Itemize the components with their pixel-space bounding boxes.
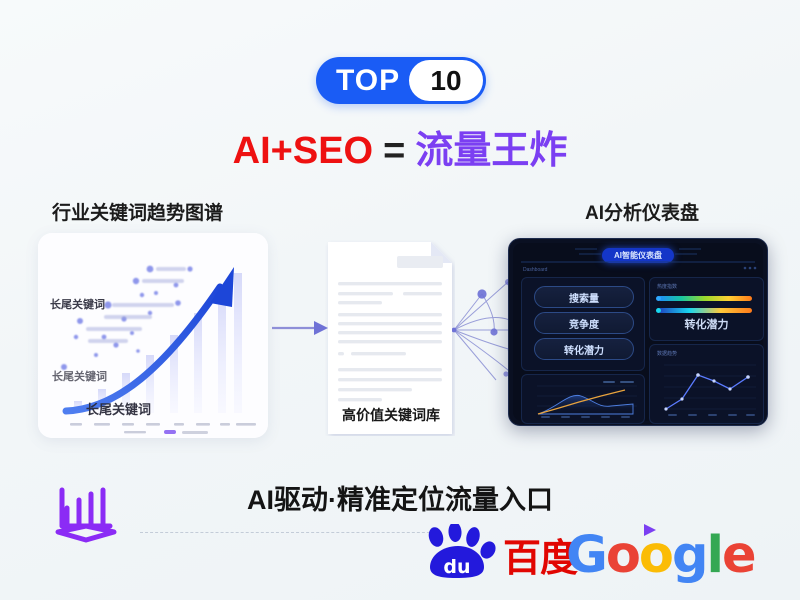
ai-dashboard-card: AI智能仪表盘 Dashboard 搜索量 竞争度 转化潜力 (508, 238, 768, 426)
heat-gauge-marker-1 (656, 296, 661, 301)
dashboard-title: AI智能仪表盘 (602, 248, 674, 263)
longtail-keyword-label-2: 长尾关键词 (52, 368, 107, 384)
metric-pill-conversion[interactable]: 转化潜力 (534, 338, 634, 360)
metric-pill-competition[interactable]: 竞争度 (534, 312, 634, 334)
heat-gauge-marker-2 (656, 308, 661, 313)
google-wordmark: Google (566, 530, 755, 581)
svg-text:du: du (443, 556, 470, 578)
page-title: AI+SEO=流量王炸 (0, 128, 800, 174)
top-badge-number: 10 (409, 60, 483, 101)
headline-left: AI+SEO (233, 130, 373, 172)
dashboard-subtitle: Dashboard (523, 267, 547, 273)
longtail-keyword-label-1: 长尾关键词 (50, 296, 105, 312)
heat-index-caption: 热度指数 (657, 283, 677, 290)
top-badge-word: TOP (336, 66, 400, 96)
infographic-canvas: TOP 10 AI+SEO=流量王炸 行业关键词趋势图谱 AI分析仪表盘 (0, 0, 800, 600)
headline-right: 流量王炸 (415, 130, 567, 172)
section-label-keyword-trend: 行业关键词趋势图谱 (52, 198, 223, 225)
data-trend-panel: 数据趋势 (649, 344, 764, 424)
traffic-overview-chart (525, 378, 641, 420)
heat-gauge-bar-2 (658, 308, 752, 313)
heat-index-panel: 热度指数 转化潜力 (649, 277, 764, 341)
flow-arrow-icon (272, 318, 332, 338)
heat-gauge-bar-1 (658, 296, 752, 301)
bar-chart-pedestal-icon (48, 482, 124, 548)
play-cursor-icon (640, 522, 660, 540)
headline-equals: = (383, 130, 405, 172)
baidu-paw-logo-icon: du (418, 524, 502, 580)
document-label: 高价值关键词库 (328, 405, 454, 425)
metric-pill-search-volume[interactable]: 搜索量 (534, 286, 634, 308)
longtail-keyword-label-3: 长尾关键词 (86, 399, 151, 418)
search-engine-logos: du 百度 Google (418, 522, 748, 584)
keyword-trend-card: 长尾关键词 长尾关键词 长尾关键词 (38, 233, 268, 438)
top-rank-badge: TOP 10 (316, 57, 486, 104)
section-label-ai-dashboard: AI分析仪表盘 (585, 198, 699, 225)
data-trend-caption: 数据趋势 (657, 350, 677, 357)
keyword-trend-chart (38, 233, 268, 438)
metric-pills-panel: 搜索量 竞争度 转化潜力 (521, 277, 645, 371)
conversion-potential-highlight: 转化潜力 (650, 316, 763, 332)
data-trend-chart (654, 359, 759, 419)
footer-divider (140, 532, 440, 534)
traffic-overview-panel (521, 374, 645, 424)
dashboard-screen: AI智能仪表盘 Dashboard 搜索量 竞争度 转化潜力 (513, 243, 763, 421)
